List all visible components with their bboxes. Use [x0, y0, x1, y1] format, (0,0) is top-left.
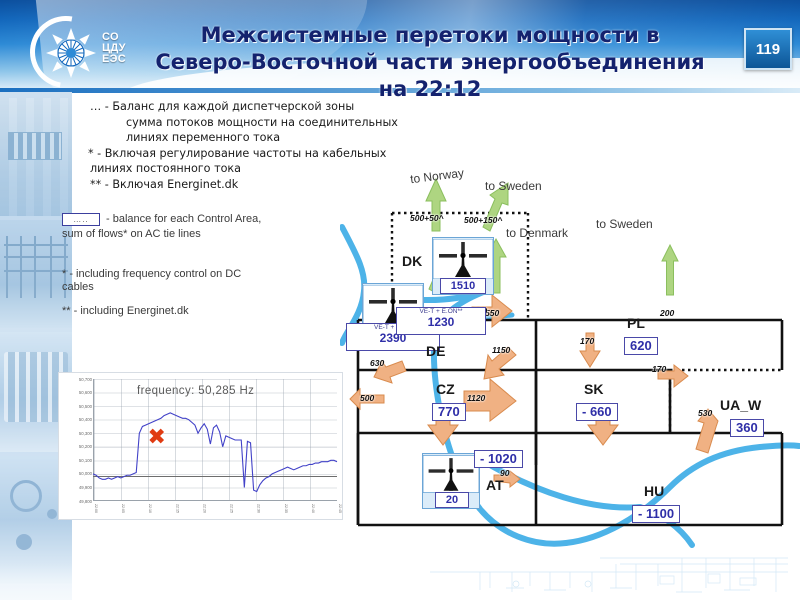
ext-label-to-sweden-1: to Sweden	[485, 179, 542, 193]
logo-wordmark: СО ЦДУ ЕЭС	[102, 32, 126, 65]
zone-sk-value: - 660	[576, 403, 618, 421]
flow-label-cz-west: 500	[360, 393, 374, 403]
chart-x-tick: 22:00	[90, 504, 98, 513]
zone-dk-value: 1510	[440, 278, 486, 294]
zone-sk-label: SK	[584, 381, 603, 397]
en-note-line-5: ** - including Energinet.dk	[62, 304, 382, 318]
river-coastline	[342, 227, 799, 545]
ru-note-line-2: сумма потоков мощности на соединительных	[86, 115, 481, 131]
zone-cz-value: 770	[432, 403, 466, 421]
ru-note-line-3: линиях переменного тока	[86, 130, 481, 146]
wind-turbine-icon	[423, 455, 479, 493]
zone-dk-label: DK	[402, 253, 422, 269]
balance-box-swatch-icon: …..	[62, 213, 100, 226]
zone-hu-label: HU	[644, 483, 664, 499]
ru-note-line-4: * - Включая регулирование частоты на каб…	[86, 146, 481, 162]
zone-at-label: AT	[486, 477, 504, 493]
chart-x-tick: 22:20	[198, 504, 206, 513]
ru-note-line-1: … - Баланс для каждой диспетчерской зоны	[86, 99, 481, 115]
zone-uaw-label: UA_W	[720, 397, 761, 413]
zone-cz-label: CZ	[436, 381, 455, 397]
en-note-line-1: - balance for each Control Area,	[106, 212, 261, 226]
zone-de-label: DE	[426, 343, 445, 359]
page-title: Межсистемные перетоки мощности в Северо-…	[150, 22, 710, 103]
ext-label-to-sweden-2: to Sweden	[596, 217, 653, 231]
zone-at-turbine-value: 20	[435, 492, 469, 508]
sun-turbine-logo-icon	[44, 26, 98, 80]
zone-hu-value: - 1100	[632, 505, 680, 523]
logo-line-3: ЕЭС	[102, 54, 126, 65]
chart-y-tick: 50,500	[60, 404, 92, 409]
chart-y-tick: 50,400	[60, 417, 92, 422]
ext-label-to-denmark: to Denmark	[506, 226, 568, 240]
slide-root: СО ЦДУ ЕЭС Межсистемные перетоки мощност…	[0, 0, 800, 600]
flow-label-cz-sk: 1120	[467, 393, 485, 403]
flow-label-pl-sk: 170	[580, 336, 594, 346]
zone-at-turbine-card: 20	[422, 453, 480, 509]
en-note-block-2: * - including frequency control on DC ca…	[62, 267, 382, 294]
zone-pl-label: PL	[627, 315, 645, 331]
notes-english: ….. - balance for each Control Area, sum…	[62, 212, 382, 318]
frequency-chart: frequency: 50,285 Hz ✖ 50,70050,60050,50…	[58, 372, 343, 520]
photo-control-room	[0, 98, 72, 216]
zone-pl-value: 620	[624, 337, 658, 355]
company-logo: СО ЦДУ ЕЭС	[24, 12, 144, 94]
schematic-watermark	[420, 548, 790, 598]
chart-x-tick: 22:15	[171, 504, 179, 513]
flow-label-uaw-hu: 530	[698, 408, 712, 418]
chart-x-tick: 22:40	[307, 504, 315, 513]
network-diagram: to Norway to Sweden to Denmark to Sweden…	[340, 165, 800, 565]
chart-y-tick: 50,200	[60, 444, 92, 449]
zone-uaw-value: 360	[730, 419, 764, 437]
zone-de-inner-value: 1230	[397, 316, 485, 329]
flow-label-dk-sweden: 500+150^	[464, 215, 502, 225]
chart-x-tick: 22:10	[144, 504, 152, 513]
chart-series-svg	[59, 373, 344, 521]
chart-x-tick: 22:30	[253, 504, 261, 513]
chart-y-tick: 50,700	[60, 377, 92, 382]
chart-x-tick: 22:05	[117, 504, 125, 513]
chart-x-tick: 22:35	[280, 504, 288, 513]
sidebar-photo-strip	[0, 92, 72, 600]
en-note-line-3: * - including frequency control on DC	[62, 267, 382, 281]
wind-turbine-icon	[433, 239, 493, 279]
page-number-badge: 119	[744, 28, 792, 70]
flow-label-pl-sweden: 200	[660, 308, 674, 318]
chart-y-tick: 50,300	[60, 431, 92, 436]
chart-y-tick: 50,100	[60, 458, 92, 463]
chart-y-tick: 50,000	[60, 471, 92, 476]
chart-y-tick: 49,900	[60, 485, 92, 490]
red-cross-marker-icon: ✖	[147, 429, 167, 449]
chart-y-tick: 49,800	[60, 499, 92, 504]
diagram-vector-layer	[340, 165, 800, 565]
flow-label-dk-norway: 500+50^	[410, 213, 444, 223]
flow-label-de-cz: 630	[370, 358, 384, 368]
en-note-line-4: cables	[62, 280, 382, 294]
zone-de-inner-pill: VE-T + E.ON** 1230	[396, 307, 486, 335]
chart-y-tick: 50,600	[60, 390, 92, 395]
flow-label-sk-uaw: 170	[652, 364, 666, 374]
zone-at-value: - 1020	[474, 450, 523, 468]
chart-x-tick: 22:25	[226, 504, 234, 513]
photo-strip-fade	[0, 562, 72, 600]
en-legend-row: ….. - balance for each Control Area,	[62, 212, 382, 226]
en-note-line-2: sum of flows* on AC tie lines	[62, 227, 382, 241]
flow-label-pl-cz: 1150	[492, 345, 510, 355]
zone-dk-turbine-card: 1510	[432, 237, 494, 295]
